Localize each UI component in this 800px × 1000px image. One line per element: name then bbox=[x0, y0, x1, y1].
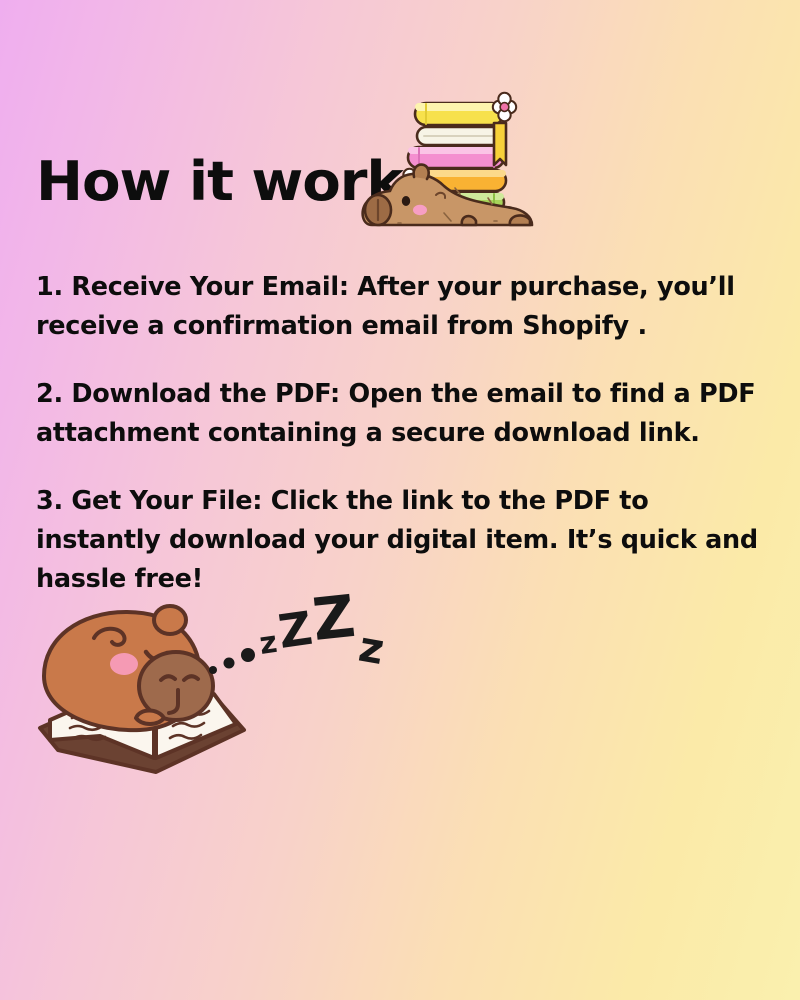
zzz-glyph-4: z bbox=[355, 622, 388, 675]
book-yellow-icon bbox=[415, 103, 503, 125]
zzz-dot-3 bbox=[241, 648, 255, 662]
capybara-back-leg bbox=[510, 215, 530, 225]
zzz-glyph-2: Z bbox=[275, 601, 316, 659]
sleep-zzz-illustration: z Z Z z bbox=[205, 592, 415, 687]
capybara-with-book-stack-illustration bbox=[352, 55, 552, 245]
steps-list: 1. Receive Your Email: After your purcha… bbox=[36, 268, 764, 599]
poster-canvas: How it works bbox=[0, 0, 800, 1000]
capybara-ear bbox=[414, 165, 429, 179]
step-item-1: 1. Receive Your Email: After your purcha… bbox=[36, 268, 764, 346]
step-item-2: 2. Download the PDF: Open the email to f… bbox=[36, 375, 764, 453]
sleeping-capybara-ear bbox=[154, 606, 186, 634]
step-item-3: 3. Get Your File: Click the link to the … bbox=[36, 482, 764, 599]
zzz-glyph-3: Z bbox=[309, 592, 358, 654]
capybara-blush bbox=[413, 205, 427, 215]
book-white-icon bbox=[417, 127, 505, 145]
sleeping-capybara-paw bbox=[136, 711, 164, 725]
zzz-glyph-1: z bbox=[257, 625, 279, 662]
bookmark-icon bbox=[494, 123, 506, 165]
capybara-front-leg bbox=[462, 216, 476, 225]
capybara-eye bbox=[402, 196, 410, 206]
zzz-dot-1 bbox=[209, 666, 217, 674]
sleeping-capybara-blush bbox=[110, 653, 138, 675]
zzz-dot-2 bbox=[224, 658, 235, 669]
